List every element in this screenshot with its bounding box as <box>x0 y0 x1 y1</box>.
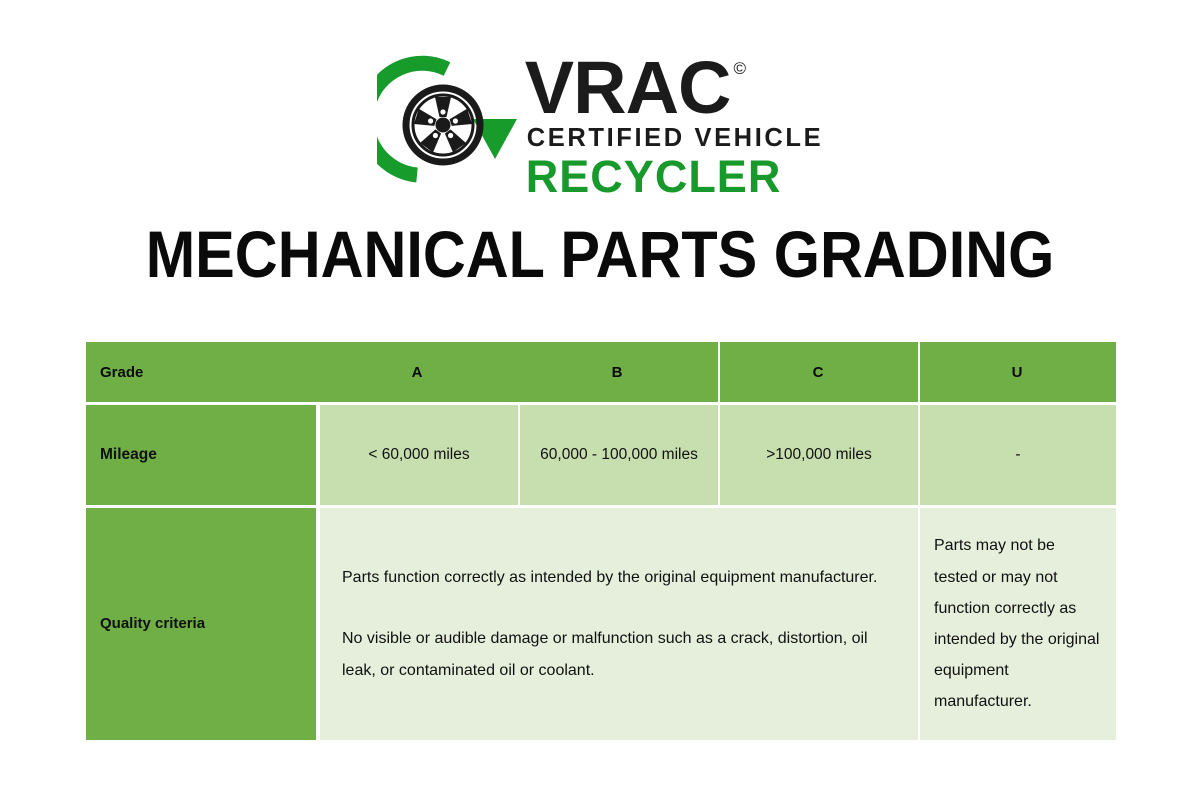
cell-mileage-u: - <box>918 405 1116 505</box>
quality-paragraph-2: No visible or audible damage or malfunct… <box>342 623 900 685</box>
cell-quality-abc: Parts function correctly as intended by … <box>318 508 918 740</box>
logo-inner: V R AC © CERTIFIED VEHICLE RECYCLER <box>377 52 823 199</box>
header-cell-c: C <box>718 342 918 402</box>
recycling-wheel-icon <box>377 55 517 195</box>
paragraph-gap <box>342 593 900 623</box>
header-cell-b: B <box>518 342 718 402</box>
row-label-mileage: Mileage <box>86 405 318 505</box>
quality-paragraph-1: Parts function correctly as intended by … <box>342 562 900 593</box>
brand-name-row: V R AC © <box>525 56 823 120</box>
cell-mileage-b: 60,000 - 100,000 miles <box>518 405 718 505</box>
row-label-quality-criteria: Quality criteria <box>86 508 318 740</box>
cell-quality-u: Parts may not be tested or may not funct… <box>918 508 1116 740</box>
logo-word-recycler: RECYCLER <box>526 154 823 199</box>
header-cell-a: A <box>318 342 518 402</box>
table-row-quality-criteria: Quality criteria Parts function correctl… <box>86 508 1116 740</box>
header-cell-u: U <box>918 342 1116 402</box>
header-cell-grade: Grade <box>86 342 318 402</box>
brand-letter-v: V <box>525 56 573 120</box>
brand-letters-ac: AC <box>626 56 731 120</box>
brand-letter-r: R <box>573 56 625 120</box>
page-title: MECHANICAL PARTS GRADING <box>60 218 1140 290</box>
copyright-icon: © <box>734 62 747 77</box>
logo-wordmark: V R AC © CERTIFIED VEHICLE RECYCLER <box>525 52 823 199</box>
logo-tagline: CERTIFIED VEHICLE <box>527 124 823 153</box>
table-row-mileage: Mileage < 60,000 miles 60,000 - 100,000 … <box>86 405 1116 505</box>
brand-logo: V R AC © CERTIFIED VEHICLE RECYCLER <box>0 52 1200 202</box>
table-header-row: Grade A B C U <box>86 342 1116 402</box>
cell-mileage-a: < 60,000 miles <box>318 405 518 505</box>
mechanical-parts-grading-table: Grade A B C U Mileage < 60,000 miles 60,… <box>86 342 1116 740</box>
cell-mileage-c: >100,000 miles <box>718 405 918 505</box>
